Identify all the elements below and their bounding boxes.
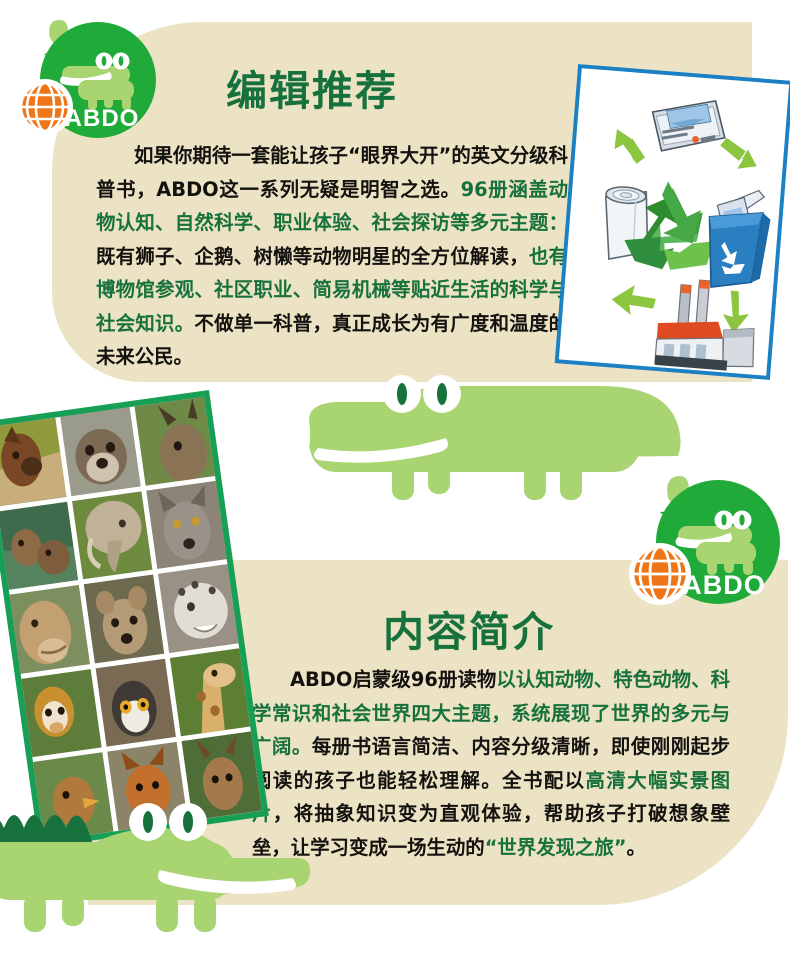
- animal-photo-lemur: [96, 658, 176, 747]
- animal-photo-camel: [10, 585, 90, 674]
- paragraph-run: ABDO启蒙级96册读物: [290, 668, 496, 691]
- summary-paragraph: ABDO启蒙级96册读物以认知动物、特色动物、科学常识和社会世界四大主题，系统展…: [252, 663, 730, 864]
- animal-photo-capybara: [0, 501, 78, 590]
- globe-icon: [629, 543, 691, 605]
- abdo-logo-right[interactable]: ABDO: [606, 466, 786, 616]
- editorial-heading: 编辑推荐: [226, 57, 398, 117]
- crocodile-spikes: [0, 815, 92, 844]
- summary-heading: 内容简介: [383, 598, 555, 658]
- poster-canvas: ABDO: [0, 0, 790, 970]
- paragraph-run: 。: [627, 836, 646, 859]
- paragraph-run: 既有狮子、企鹅、树懒等动物明星的全方位解读，: [96, 245, 529, 268]
- animal-photo-grid: [0, 390, 269, 848]
- paragraph-run: “世界发现之旅”: [485, 836, 627, 859]
- logo-wordmark: ABDO: [65, 105, 140, 132]
- animal-photo-kangaroo: [135, 397, 215, 486]
- animal-photo-monkey: [21, 669, 101, 758]
- crocodile-mascot-bottom-left: [0, 786, 314, 936]
- globe-icon: [17, 79, 73, 135]
- editorial-paragraph: 如果你期待一套能让孩子“眼界大开”的英文分级科普书，ABDO这一系列无疑是明智之…: [96, 139, 568, 374]
- animal-photo-snow-leopard: [158, 564, 238, 653]
- abdo-logo-top[interactable]: ABDO: [10, 18, 170, 148]
- animal-photo-hyena: [84, 575, 164, 664]
- animal-photo-otter: [60, 407, 140, 496]
- animal-photo-elephant: [72, 491, 152, 580]
- animal-photo-warthog: [0, 418, 66, 507]
- logo-wordmark: ABDO: [682, 570, 766, 600]
- animal-photo-giraffe: [170, 648, 250, 737]
- recycling-cycle-illustration: [555, 64, 790, 380]
- animal-photo-wolf: [146, 480, 226, 569]
